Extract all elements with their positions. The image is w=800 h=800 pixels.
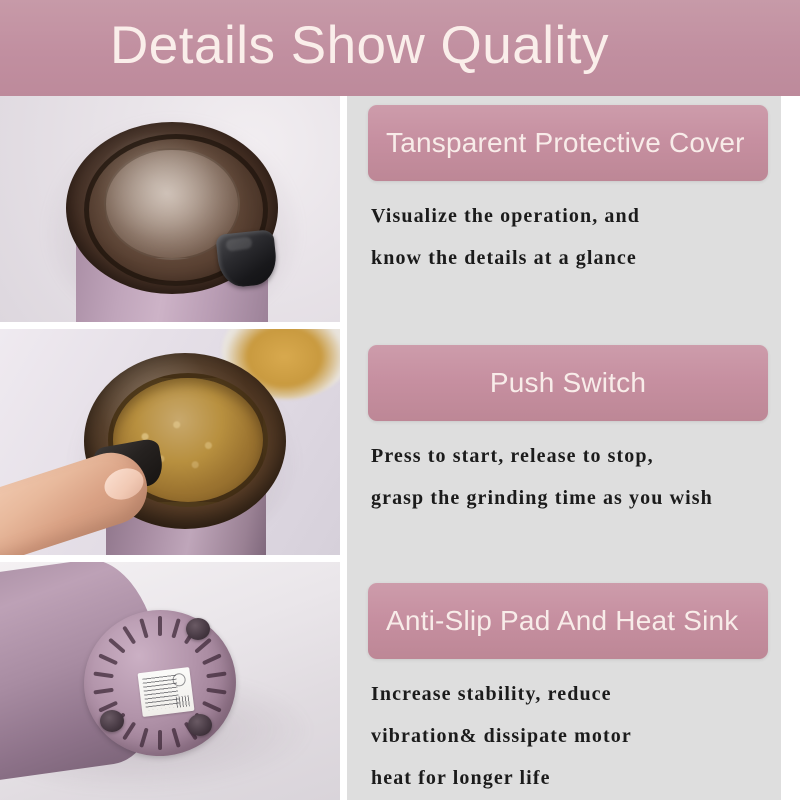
heat-sink-vent [194, 638, 212, 654]
heat-sink-vent [122, 721, 136, 740]
anti-slip-pad [188, 714, 212, 736]
heat-sink-vent [139, 618, 148, 638]
barcode-icon [176, 695, 190, 708]
feature-text-panel: Tansparent Protective Cover Visualize th… [347, 96, 781, 800]
right-margin [781, 96, 800, 800]
feature-banner-label: Anti-Slip Pad And Heat Sink [386, 607, 739, 635]
feature-banner: Anti-Slip Pad And Heat Sink [368, 583, 768, 659]
feature-description-line: grasp the grinding time as you wish [371, 477, 781, 519]
header-banner: Details Show Quality [0, 0, 800, 96]
feature-description-line: Increase stability, reduce [371, 673, 781, 715]
feature-description-line: know the details at a glance [371, 237, 781, 279]
product-photo-base [0, 562, 340, 800]
heat-sink-vent [206, 688, 226, 695]
feature-description-line: heat for longer life [371, 757, 781, 799]
page-title: Details Show Quality [110, 10, 609, 82]
anti-slip-pad [186, 618, 210, 640]
heat-sink-vent [139, 728, 148, 748]
spec-label [138, 667, 195, 717]
feature-description-line: Visualize the operation, and [371, 195, 781, 237]
feature-block-transparent-cover: Tansparent Protective Cover Visualize th… [347, 105, 781, 279]
column-divider [340, 96, 347, 800]
feature-banner: Tansparent Protective Cover [368, 105, 768, 181]
feature-description-line: vibration& dissipate motor [371, 715, 781, 757]
feature-banner-label: Push Switch [490, 369, 646, 397]
heat-sink-vent [202, 701, 222, 713]
feature-description-line: Press to start, release to stop, [371, 435, 781, 477]
feature-description: Visualize the operation, and know the de… [371, 195, 781, 279]
heat-sink-vent [98, 653, 118, 665]
product-photo-push-switch [0, 329, 340, 555]
heat-sink-vent [171, 618, 180, 638]
heat-sink-vent [158, 730, 162, 750]
heat-sink-vent [93, 688, 113, 695]
heat-sink-vent [93, 671, 113, 678]
feature-block-push-switch: Push Switch Press to start, release to s… [347, 345, 781, 519]
heat-sink-vent [171, 728, 180, 748]
photo-column [0, 96, 340, 800]
feature-description: Increase stability, reduce vibration& di… [371, 673, 781, 799]
certification-mark-icon [172, 673, 186, 687]
feature-banner-label: Tansparent Protective Cover [386, 129, 745, 157]
heat-sink-vent [206, 671, 226, 678]
anti-slip-pad [100, 710, 124, 732]
heat-sink-vent [158, 616, 162, 636]
heat-sink-vent [202, 653, 222, 665]
heat-sink-vent [108, 638, 126, 654]
product-photo-transparent-cover [0, 96, 340, 322]
product-infographic: Details Show Quality [0, 0, 800, 800]
heat-sink-vent [122, 626, 136, 645]
feature-block-anti-slip-pad: Anti-Slip Pad And Heat Sink Increase sta… [347, 583, 781, 799]
feature-description: Press to start, release to stop, grasp t… [371, 435, 781, 519]
feature-banner: Push Switch [368, 345, 768, 421]
